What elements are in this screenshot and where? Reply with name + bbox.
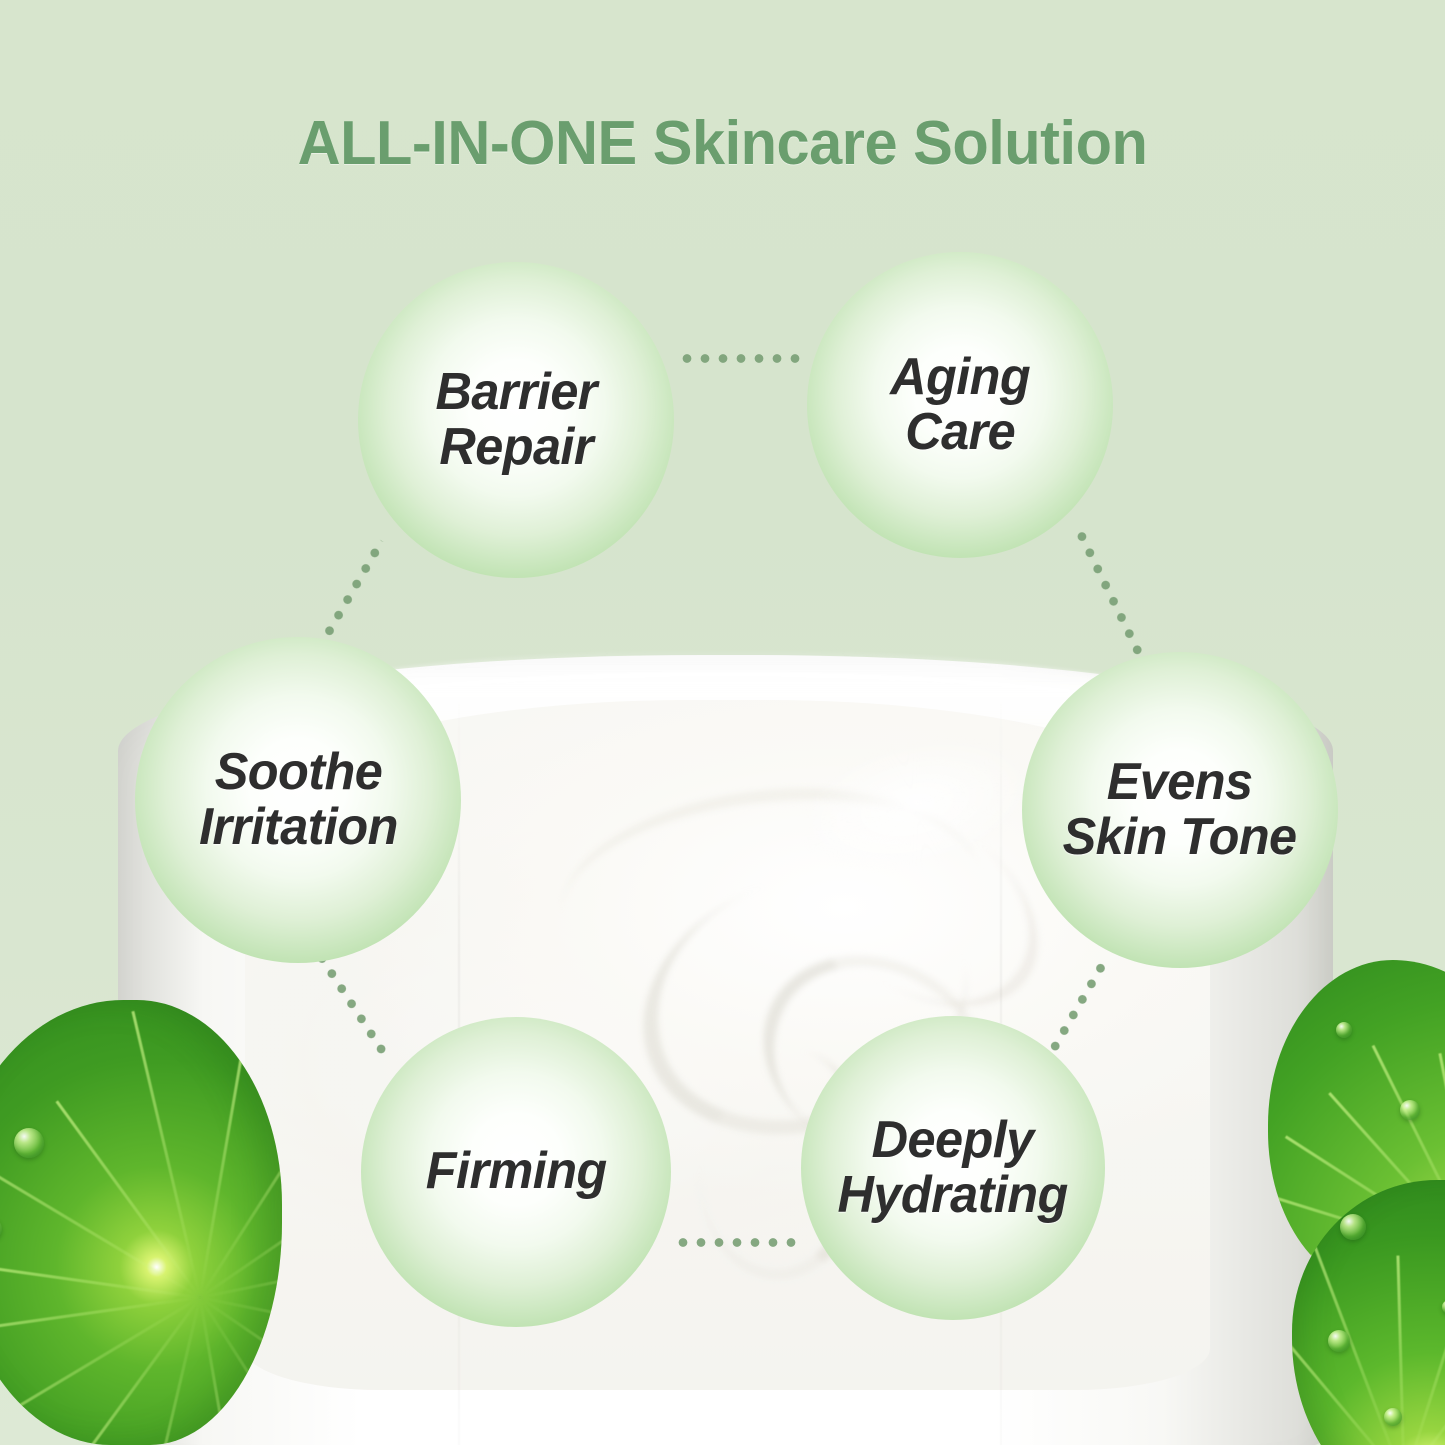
benefit-bubble-evens-skin-tone[interactable]: EvensSkin Tone [1022,652,1338,968]
benefit-label-soothe-irritation: SootheIrritation [191,745,405,855]
benefit-bubble-deeply-hydrating[interactable]: DeeplyHydrating [801,1016,1105,1320]
benefit-bubble-firming[interactable]: Firming [361,1017,671,1327]
benefit-bubble-aging-care[interactable]: AgingCare [807,252,1113,558]
benefit-bubble-barrier-repair[interactable]: BarrierRepair [358,262,674,578]
benefit-label-barrier-repair: BarrierRepair [428,365,605,475]
benefit-bubbles: BarrierRepairAgingCareSootheIrritationEv… [0,0,1445,1445]
benefit-label-evens-skin-tone: EvensSkin Tone [1055,755,1304,865]
benefit-bubble-soothe-irritation[interactable]: SootheIrritation [135,637,461,963]
benefit-label-aging-care: AgingCare [882,350,1037,460]
page-title: ALL-IN-ONE Skincare Solution [29,108,1416,179]
benefit-label-firming: Firming [418,1144,614,1199]
benefit-label-deeply-hydrating: DeeplyHydrating [830,1113,1076,1223]
infographic-canvas: BarrierRepairAgingCareSootheIrritationEv… [0,0,1445,1445]
